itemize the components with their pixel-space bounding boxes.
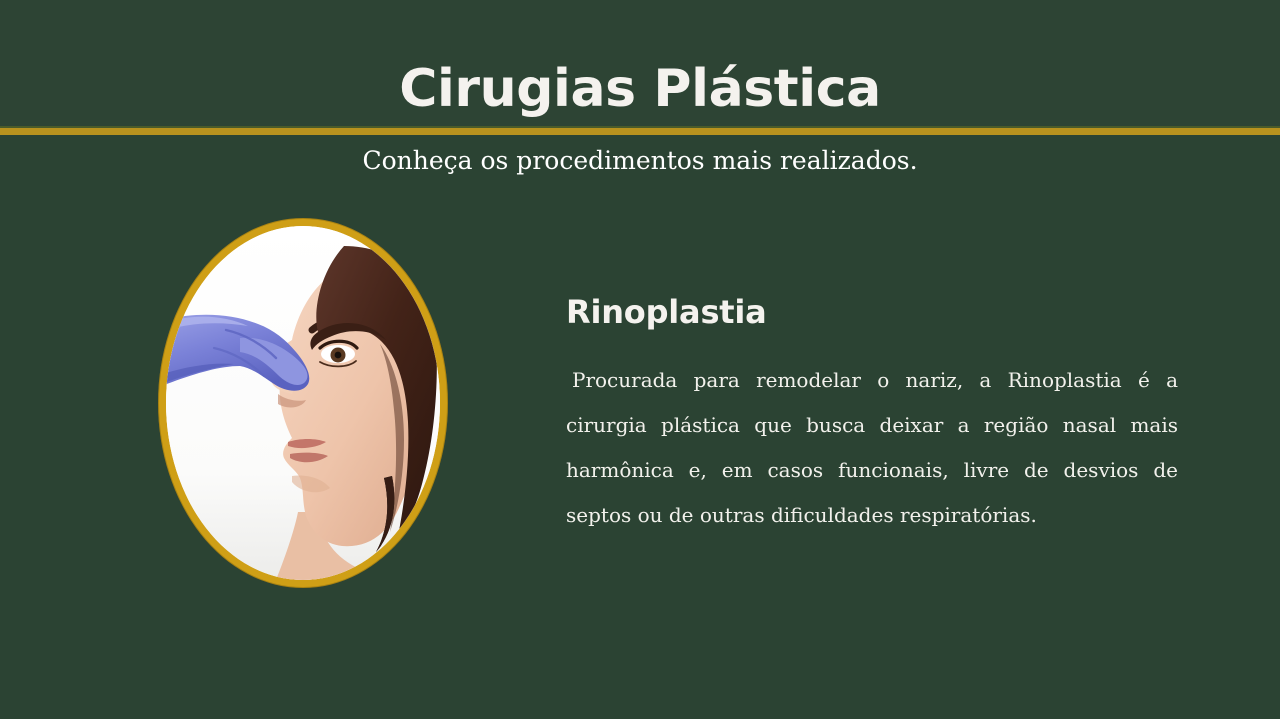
slide-canvas: Cirugias Plástica Conheça os procediment… — [0, 0, 1280, 719]
divider-gold-rule — [0, 128, 1280, 135]
oval-photo-inner — [166, 226, 440, 580]
gold-divider — [0, 126, 1280, 135]
section-heading-rinoplastia: Rinoplastia — [566, 291, 767, 333]
page-title: Cirugias Plástica — [0, 58, 1280, 120]
page-subtitle: Conheça os procedimentos mais realizados… — [340, 142, 940, 180]
oval-photo-frame — [158, 218, 448, 588]
rhinoplasty-photo — [166, 226, 440, 580]
section-body-text: Procurada para remodelar o nariz, a Rino… — [566, 358, 1178, 538]
